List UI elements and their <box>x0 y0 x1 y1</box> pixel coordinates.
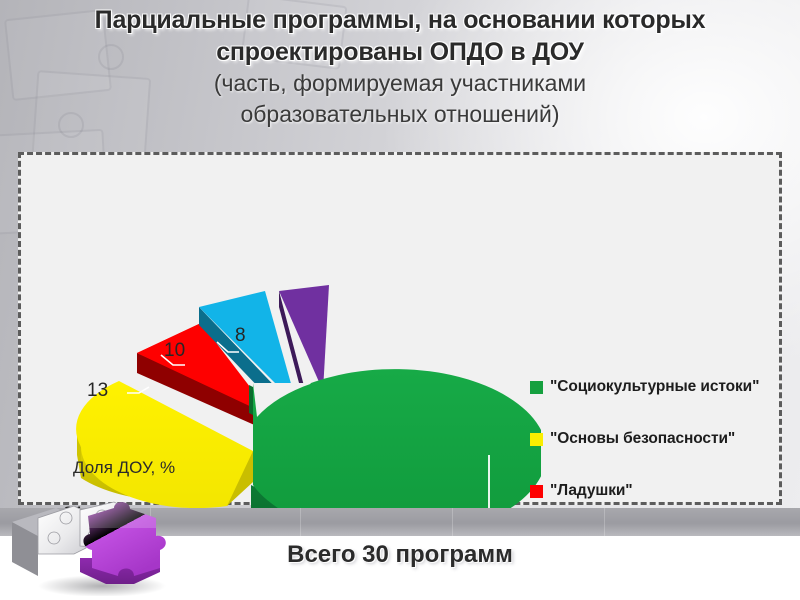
legend-swatch-yellow <box>530 433 543 446</box>
data-label-cvetnye-ladoshki: 10 <box>164 340 185 362</box>
legend-item-osnovy-bezopasnosti[interactable]: "Основы безопасности" <box>530 413 792 465</box>
footer-note: Всего 30 программ <box>0 541 800 569</box>
slide-title-line-1: Парциальные программы, на основании кото… <box>0 4 800 36</box>
legend-swatch-red <box>530 485 543 498</box>
chart-axis-caption: Доля ДОУ, % <box>73 458 175 478</box>
title-block: Парциальные программы, на основании кото… <box>0 4 800 130</box>
slide-canvas: Парциальные программы, на основании кото… <box>0 0 800 600</box>
data-label-kroha: 8 <box>235 325 246 347</box>
slide-title-line-2: спроектированы ОПДО в ДОУ <box>0 36 800 68</box>
legend-label-sociokulturnye-istoki: "Социокультурные истоки" <box>550 378 759 396</box>
pie-slice-green[interactable] <box>249 369 541 508</box>
slide-subtitle-line-1: (часть, формируемая участниками <box>0 68 800 99</box>
data-label-ladushki: 13 <box>87 380 108 402</box>
pie-chart-svg <box>21 155 541 508</box>
chart-frame: 8 10 13 31 87 Доля ДОУ, % "Социокультурн… <box>18 152 782 505</box>
legend-item-sociokulturnye-istoki[interactable]: "Социокультурные истоки" <box>530 361 792 413</box>
pie-chart[interactable]: 8 10 13 31 87 <box>21 155 541 508</box>
legend-swatch-green <box>530 381 543 394</box>
legend-label-ladushki: "Ладушки" <box>550 482 633 500</box>
slide-subtitle-line-2: образовательных отношений) <box>0 99 800 130</box>
legend-label-osnovy-bezopasnosti: "Основы безопасности" <box>550 430 735 448</box>
